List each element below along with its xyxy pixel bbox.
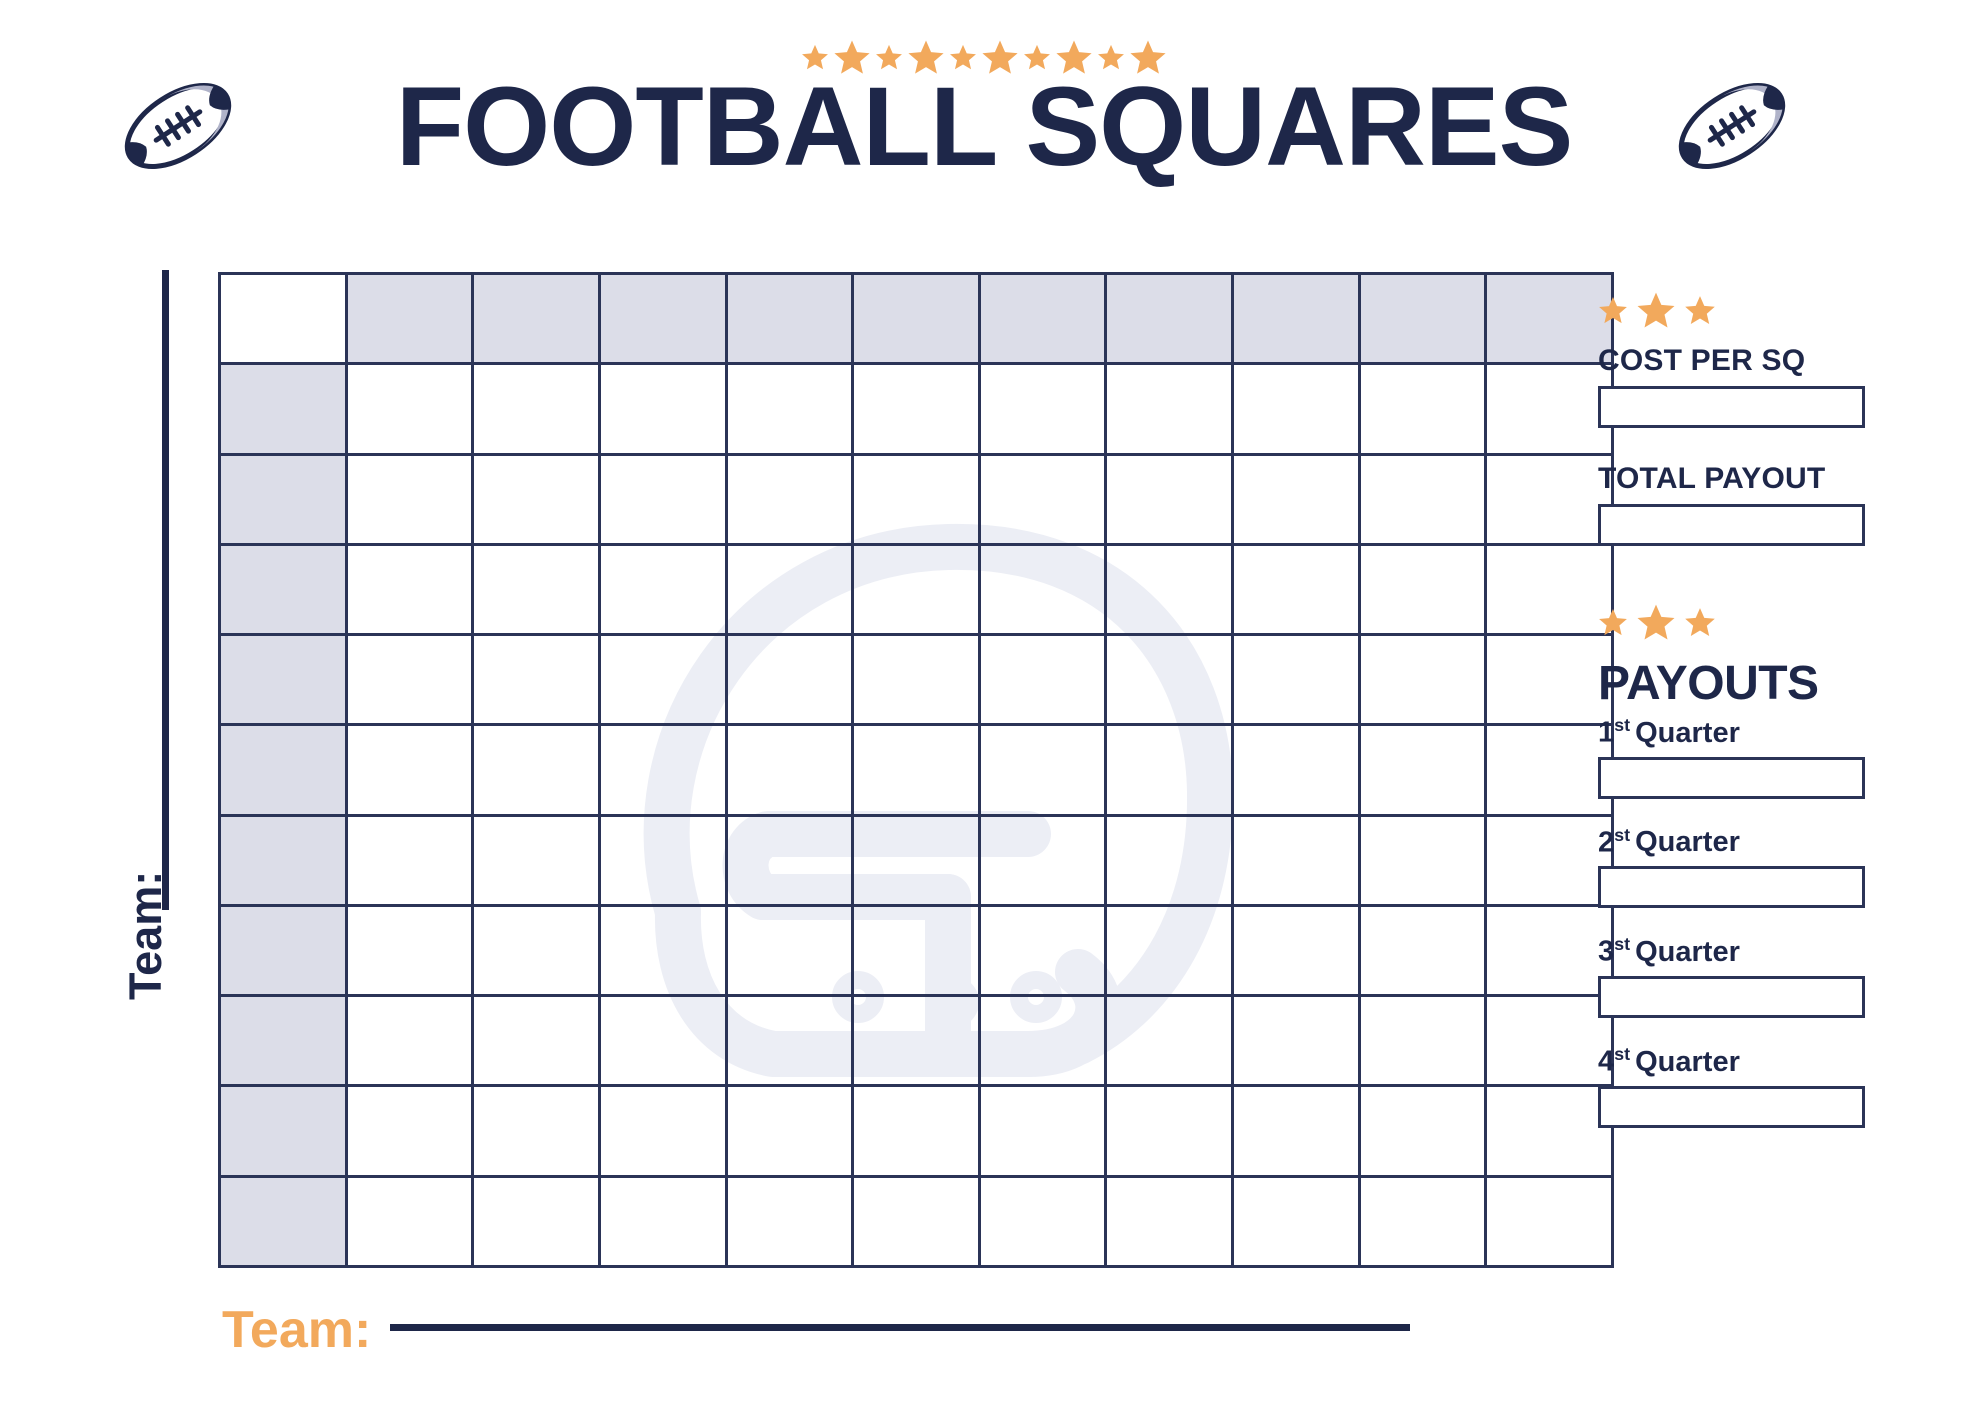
grid-square-cell[interactable] (1486, 996, 1613, 1086)
grid-column-header-cell[interactable] (979, 274, 1106, 364)
grid-square-cell[interactable] (599, 364, 726, 454)
cost-per-sq-label: COST PER SQ (1598, 344, 1928, 378)
grid-square-cell[interactable] (1359, 996, 1486, 1086)
grid-square-cell[interactable] (1359, 725, 1486, 815)
grid-square-cell[interactable] (346, 725, 473, 815)
grid-square-cell[interactable] (1233, 996, 1360, 1086)
cost-star-row (1598, 290, 1928, 330)
quarter-word: Quarter (1635, 826, 1740, 858)
grid-square-cell[interactable] (853, 544, 980, 634)
grid-square-cell[interactable] (346, 996, 473, 1086)
team-left-group: Team: (118, 270, 178, 1010)
grid-row-header-cell[interactable] (220, 635, 347, 725)
grid-square-cell[interactable] (726, 635, 853, 725)
grid-square-cell[interactable] (979, 454, 1106, 544)
grid-square-cell[interactable] (473, 1086, 600, 1176)
quarter-word: Quarter (1635, 936, 1740, 968)
grid-row (220, 544, 1613, 634)
grid-square-cell[interactable] (346, 905, 473, 995)
grid-square-cell[interactable] (599, 1176, 726, 1266)
grid-square-cell[interactable] (1233, 725, 1360, 815)
squares-grid-wrapper (218, 272, 1614, 1268)
grid-square-cell[interactable] (1233, 815, 1360, 905)
grid-square-cell[interactable] (853, 725, 980, 815)
grid-square-cell[interactable] (853, 1086, 980, 1176)
grid-square-cell[interactable] (473, 815, 600, 905)
grid-square-cell[interactable] (599, 725, 726, 815)
grid-square-cell[interactable] (979, 635, 1106, 725)
quarter-label: 4stQuarter (1598, 1044, 1928, 1079)
grid-square-cell[interactable] (473, 544, 600, 634)
star-icon (1598, 607, 1628, 637)
grid-square-cell[interactable] (599, 905, 726, 995)
grid-row-header-cell[interactable] (220, 996, 347, 1086)
grid-square-cell[interactable] (1486, 815, 1613, 905)
quarter-number: 4 (1598, 1046, 1614, 1078)
grid-square-cell[interactable] (473, 635, 600, 725)
grid-square-cell[interactable] (599, 635, 726, 725)
grid-square-cell[interactable] (853, 1176, 980, 1266)
grid-square-cell[interactable] (346, 815, 473, 905)
grid-square-cell[interactable] (1359, 635, 1486, 725)
quarter-ordinal: st (1614, 715, 1630, 735)
grid-square-cell[interactable] (726, 815, 853, 905)
grid-column-header-cell[interactable] (599, 274, 726, 364)
grid-square-cell[interactable] (1106, 544, 1233, 634)
grid-square-cell[interactable] (473, 364, 600, 454)
grid-column-header-cell[interactable] (726, 274, 853, 364)
quarter-word: Quarter (1635, 1046, 1740, 1078)
grid-square-cell[interactable] (1359, 454, 1486, 544)
quarter-ordinal: st (1614, 825, 1630, 845)
cost-per-sq-input[interactable] (1598, 386, 1865, 428)
grid-row-header-cell[interactable] (220, 1176, 347, 1266)
grid-square-cell[interactable] (1359, 815, 1486, 905)
grid-square-cell[interactable] (853, 454, 980, 544)
grid-square-cell[interactable] (1233, 364, 1360, 454)
grid-row-header-cell[interactable] (220, 815, 347, 905)
grid-square-cell[interactable] (1106, 905, 1233, 995)
grid-square-cell[interactable] (473, 996, 600, 1086)
quarter-word: Quarter (1635, 717, 1740, 749)
grid-square-cell[interactable] (346, 1086, 473, 1176)
grid-square-cell[interactable] (979, 905, 1106, 995)
star-icon (1636, 290, 1676, 330)
grid-square-cell[interactable] (1359, 905, 1486, 995)
quarters-list: 1stQuarter2stQuarter3stQuarter4stQuarter (1598, 715, 1928, 1128)
grid-row (220, 454, 1613, 544)
grid-row-header-cell[interactable] (220, 905, 347, 995)
team-bottom-input-rule[interactable] (390, 1324, 1410, 1331)
grid-square-cell[interactable] (1106, 996, 1233, 1086)
quarter-label: 3stQuarter (1598, 934, 1928, 969)
star-icon (1598, 295, 1628, 325)
grid-square-cell[interactable] (1233, 454, 1360, 544)
payouts-star-row (1598, 602, 1928, 642)
grid-square-cell[interactable] (1233, 544, 1360, 634)
grid-square-cell[interactable] (473, 454, 600, 544)
grid-square-cell[interactable] (1359, 544, 1486, 634)
grid-square-cell[interactable] (726, 544, 853, 634)
grid-square-cell[interactable] (1486, 725, 1613, 815)
grid-square-cell[interactable] (853, 815, 980, 905)
grid-square-cell[interactable] (1486, 1176, 1613, 1266)
quarter-number: 3 (1598, 936, 1614, 968)
quarter-ordinal: st (1614, 934, 1630, 954)
grid-square-cell[interactable] (726, 364, 853, 454)
grid-row-header-cell[interactable] (220, 454, 347, 544)
grid-square-cell[interactable] (1106, 635, 1233, 725)
grid-column-header-cell[interactable] (1486, 274, 1613, 364)
grid-square-cell[interactable] (1233, 635, 1360, 725)
page-header: FOOTBALL SQUARES (0, 62, 1968, 192)
grid-column-header-cell[interactable] (853, 274, 980, 364)
grid-header-row (220, 274, 1613, 364)
grid-square-cell[interactable] (1486, 905, 1613, 995)
squares-grid[interactable] (218, 272, 1614, 1268)
star-icon (1684, 606, 1716, 638)
grid-square-cell[interactable] (346, 364, 473, 454)
grid-square-cell[interactable] (1359, 1086, 1486, 1176)
quarter-number: 2 (1598, 826, 1614, 858)
grid-column-header-cell[interactable] (346, 274, 473, 364)
grid-square-cell[interactable] (599, 815, 726, 905)
grid-square-cell[interactable] (979, 815, 1106, 905)
grid-row-header-cell[interactable] (220, 544, 347, 634)
grid-row-header-cell[interactable] (220, 725, 347, 815)
grid-square-cell[interactable] (979, 1176, 1106, 1266)
grid-square-cell[interactable] (473, 725, 600, 815)
grid-row (220, 364, 1613, 454)
grid-square-cell[interactable] (1486, 364, 1613, 454)
star-icon (1684, 294, 1716, 326)
grid-square-cell[interactable] (853, 364, 980, 454)
grid-column-header-cell[interactable] (473, 274, 600, 364)
grid-square-cell[interactable] (726, 454, 853, 544)
grid-square-cell[interactable] (1486, 544, 1613, 634)
grid-square-cell[interactable] (346, 635, 473, 725)
payouts-section: PAYOUTS 1stQuarter2stQuarter3stQuarter4s… (1598, 602, 1928, 1128)
grid-row-header-cell[interactable] (220, 364, 347, 454)
grid-square-cell[interactable] (1486, 1086, 1613, 1176)
grid-square-cell[interactable] (1486, 635, 1613, 725)
grid-column-header-cell[interactable] (1106, 274, 1233, 364)
team-bottom-group: Team: (222, 1300, 1410, 1370)
grid-square-cell[interactable] (1106, 454, 1233, 544)
grid-square-cell[interactable] (1106, 1176, 1233, 1266)
football-icon (1672, 74, 1792, 184)
grid-square-cell[interactable] (1233, 905, 1360, 995)
grid-square-cell[interactable] (853, 635, 980, 725)
grid-column-header-cell[interactable] (1359, 274, 1486, 364)
grid-square-cell[interactable] (726, 1176, 853, 1266)
star-icon (1636, 602, 1676, 642)
right-panel: COST PER SQ TOTAL PAYOUT PAYOUTS 1stQuar… (1598, 290, 1928, 1154)
quarter-payout-input[interactable] (1598, 976, 1865, 1018)
grid-square-cell[interactable] (599, 996, 726, 1086)
grid-square-cell[interactable] (1106, 1086, 1233, 1176)
grid-square-cell[interactable] (979, 364, 1106, 454)
quarter-label: 1stQuarter (1598, 715, 1928, 750)
grid-square-cell[interactable] (346, 544, 473, 634)
grid-square-cell[interactable] (599, 544, 726, 634)
grid-square-cell[interactable] (726, 1086, 853, 1176)
total-payout-input[interactable] (1598, 504, 1865, 546)
quarter-number: 1 (1598, 717, 1614, 749)
total-payout-label: TOTAL PAYOUT (1598, 462, 1928, 496)
grid-row (220, 1176, 1613, 1266)
grid-row (220, 635, 1613, 725)
grid-row (220, 815, 1613, 905)
grid-square-cell[interactable] (726, 725, 853, 815)
grid-row-header-cell[interactable] (220, 1086, 347, 1176)
quarter-payout-input[interactable] (1598, 1086, 1865, 1128)
grid-square-cell[interactable] (1359, 364, 1486, 454)
grid-corner-cell (220, 274, 347, 364)
grid-square-cell[interactable] (346, 1176, 473, 1266)
quarter-payout-input[interactable] (1598, 866, 1865, 908)
quarter-ordinal: st (1614, 1044, 1630, 1064)
grid-square-cell[interactable] (726, 905, 853, 995)
quarter-payout-input[interactable] (1598, 757, 1865, 799)
grid-square-cell[interactable] (1106, 364, 1233, 454)
team-left-label: Team: (120, 800, 172, 1000)
grid-square-cell[interactable] (1233, 1176, 1360, 1266)
grid-row (220, 725, 1613, 815)
payouts-heading: PAYOUTS (1598, 656, 1928, 711)
grid-square-cell[interactable] (1106, 815, 1233, 905)
grid-square-cell[interactable] (979, 1086, 1106, 1176)
grid-square-cell[interactable] (473, 905, 600, 995)
grid-square-cell[interactable] (599, 454, 726, 544)
grid-square-cell[interactable] (1486, 454, 1613, 544)
grid-square-cell[interactable] (473, 1176, 600, 1266)
grid-square-cell[interactable] (1106, 725, 1233, 815)
quarter-label: 2stQuarter (1598, 825, 1928, 860)
grid-row (220, 996, 1613, 1086)
grid-row (220, 905, 1613, 995)
grid-square-cell[interactable] (979, 544, 1106, 634)
grid-square-cell[interactable] (599, 1086, 726, 1176)
grid-row (220, 1086, 1613, 1176)
team-bottom-label: Team: (222, 1301, 371, 1359)
grid-square-cell[interactable] (979, 725, 1106, 815)
grid-square-cell[interactable] (1233, 1086, 1360, 1176)
grid-square-cell[interactable] (853, 905, 980, 995)
grid-square-cell[interactable] (853, 996, 980, 1086)
grid-square-cell[interactable] (1359, 1176, 1486, 1266)
grid-column-header-cell[interactable] (1233, 274, 1360, 364)
grid-square-cell[interactable] (346, 454, 473, 544)
grid-square-cell[interactable] (979, 996, 1106, 1086)
grid-square-cell[interactable] (726, 996, 853, 1086)
